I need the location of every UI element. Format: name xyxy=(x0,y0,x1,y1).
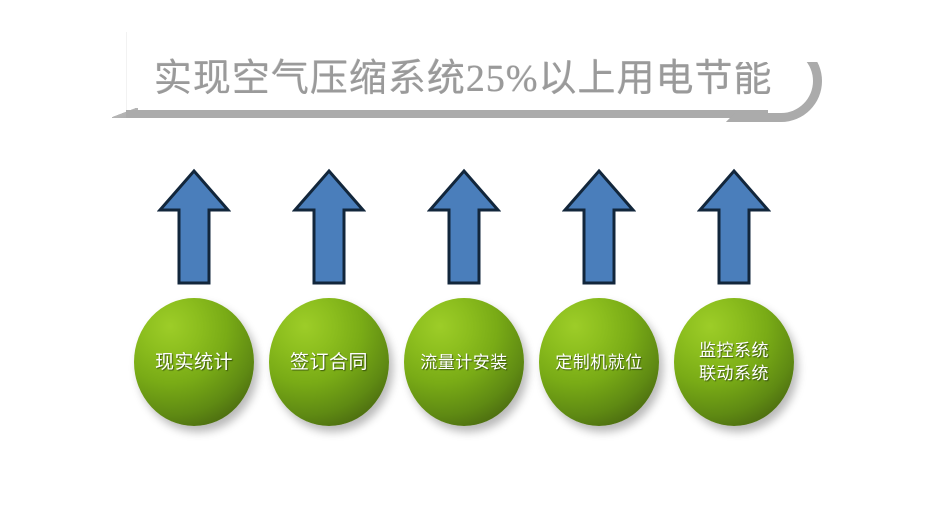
up-arrow-icon xyxy=(157,168,231,286)
flow-step-4[interactable]: 定制机就位 xyxy=(531,168,667,433)
step-circle[interactable]: 定制机就位 xyxy=(539,298,659,426)
slide-canvas: 实现空气压缩系统25%以上用电节能 现实统计 签订合同 xyxy=(0,0,945,529)
step-label: 监控系统 联动系统 xyxy=(699,339,769,385)
flow-step-5[interactable]: 监控系统 联动系统 xyxy=(666,168,802,433)
up-arrow-icon xyxy=(697,168,771,286)
step-circle[interactable]: 签订合同 xyxy=(269,298,389,426)
step-circle[interactable]: 流量计安装 xyxy=(404,298,524,426)
step-label: 签订合同 xyxy=(290,350,368,375)
step-circle[interactable]: 监控系统 联动系统 xyxy=(674,298,794,426)
flow-step-2[interactable]: 签订合同 xyxy=(261,168,397,433)
step-circle[interactable]: 现实统计 xyxy=(134,298,254,426)
up-arrow-icon xyxy=(562,168,636,286)
step-label: 流量计安装 xyxy=(420,350,508,375)
step-label: 定制机就位 xyxy=(555,350,643,375)
flow-step-1[interactable]: 现实统计 xyxy=(126,168,262,433)
flow-step-3[interactable]: 流量计安装 xyxy=(396,168,532,433)
process-flow: 现实统计 签订合同 流量计安装 xyxy=(0,0,945,529)
step-label: 现实统计 xyxy=(155,350,233,375)
up-arrow-icon xyxy=(292,168,366,286)
up-arrow-icon xyxy=(427,168,501,286)
